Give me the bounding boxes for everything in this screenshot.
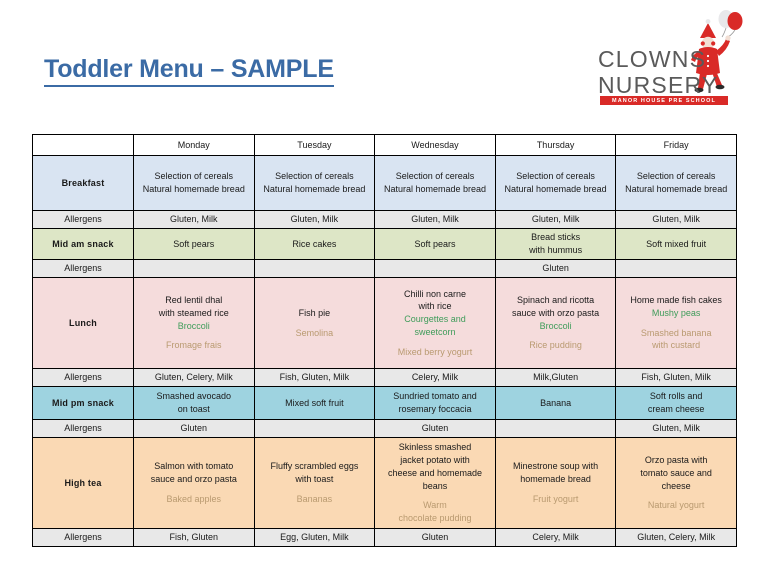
allergens-cell: Gluten (134, 420, 255, 438)
menu-cell: Soft pears (134, 229, 255, 260)
meal-row: Mid pm snackSmashed avocadoon toastMixed… (33, 387, 737, 420)
menu-cell-content: Mixed soft fruit (257, 397, 373, 410)
table-corner-cell (33, 135, 134, 156)
meal-label-mid-am-snack: Mid am snack (33, 229, 134, 260)
menu-cell-content: Rice cakes (257, 238, 373, 251)
allergens-cell (375, 260, 496, 278)
menu-cell: Spinach and ricottasauce with orzo pasta… (495, 278, 616, 369)
menu-cell-content: Fish pieSemolina (257, 307, 373, 340)
cell-spacer (498, 332, 614, 339)
allergens-label: Allergens (33, 529, 134, 547)
menu-cell: Soft mixed fruit (616, 229, 737, 260)
day-header-thursday: Thursday (495, 135, 616, 156)
allergens-cell (134, 260, 255, 278)
allergens-cell: Gluten, Celery, Milk (134, 369, 255, 387)
clowns-nursery-logo: CLOWNS NURSERY MANOR HOUSE PRE SCHOOL (598, 8, 743, 108)
cell-spacer (377, 339, 493, 346)
menu-cell-content: Red lentil dhalwith steamed riceBroccoli… (136, 294, 252, 352)
menu-cell: Selection of cerealsNatural homemade bre… (254, 156, 375, 211)
menu-cell-content: Salmon with tomatosauce and orzo pastaBa… (136, 460, 252, 505)
menu-cell: Bread stickswith hummus (495, 229, 616, 260)
menu-cell: Fish pieSemolina (254, 278, 375, 369)
cell-spacer (257, 320, 373, 327)
allergens-cell (254, 260, 375, 278)
cell-spacer (136, 332, 252, 339)
menu-cell: Rice cakes (254, 229, 375, 260)
allergens-cell (495, 420, 616, 438)
menu-cell-content: Fluffy scrambled eggswith toastBananas (257, 460, 373, 505)
menu-cell: Orzo pasta withtomato sauce andcheeseNat… (616, 438, 737, 529)
menu-cell: Red lentil dhalwith steamed riceBroccoli… (134, 278, 255, 369)
menu-cell-content: Chilli non carnewith riceCourgettes ands… (377, 288, 493, 359)
allergens-cell: Gluten (495, 260, 616, 278)
menu-cell: Selection of cerealsNatural homemade bre… (375, 156, 496, 211)
weekly-menu-table: MondayTuesdayWednesdayThursdayFridayBrea… (32, 134, 737, 547)
allergens-row: AllergensGluten, MilkGluten, MilkGluten,… (33, 211, 737, 229)
day-header-tuesday: Tuesday (254, 135, 375, 156)
meal-row: BreakfastSelection of cerealsNatural hom… (33, 156, 737, 211)
cell-spacer (618, 320, 734, 327)
allergens-label: Allergens (33, 369, 134, 387)
logo-wordmark: CLOWNS NURSERY (598, 46, 724, 98)
cell-spacer (498, 486, 614, 493)
allergens-cell: Gluten (375, 529, 496, 547)
allergens-cell: Fish, Gluten, Milk (254, 369, 375, 387)
allergens-label: Allergens (33, 260, 134, 278)
day-header-wednesday: Wednesday (375, 135, 496, 156)
allergens-cell: Gluten, Milk (616, 420, 737, 438)
logo-line-clowns: CLOWNS (598, 46, 724, 72)
menu-cell: Selection of cerealsNatural homemade bre… (495, 156, 616, 211)
menu-cell-content: Smashed avocadoon toast (136, 390, 252, 416)
meal-label-breakfast: Breakfast (33, 156, 134, 211)
menu-cell-content: Minestrone soup withhomemade breadFruit … (498, 460, 614, 505)
menu-cell-content: Bread stickswith hummus (498, 231, 614, 257)
menu-cell: Sundried tomato androsemary foccacia (375, 387, 496, 420)
menu-cell: Selection of cerealsNatural homemade bre… (134, 156, 255, 211)
allergens-label: Allergens (33, 211, 134, 229)
allergens-cell: Gluten, Milk (254, 211, 375, 229)
table-header-row: MondayTuesdayWednesdayThursdayFriday (33, 135, 737, 156)
cell-spacer (618, 492, 734, 499)
menu-cell: Home made fish cakesMushy peasSmashed ba… (616, 278, 737, 369)
allergens-cell: Celery, Milk (375, 369, 496, 387)
allergens-cell (616, 260, 737, 278)
meal-label-high-tea: High tea (33, 438, 134, 529)
allergens-cell (254, 420, 375, 438)
allergens-row: AllergensFish, GlutenEgg, Gluten, MilkGl… (33, 529, 737, 547)
allergens-cell: Milk,Gluten (495, 369, 616, 387)
menu-cell-content: Selection of cerealsNatural homemade bre… (136, 170, 252, 196)
menu-cell-content: Soft pears (136, 238, 252, 251)
cell-spacer (136, 486, 252, 493)
menu-cell-content: Soft pears (377, 238, 493, 251)
menu-cell-content: Selection of cerealsNatural homemade bre… (257, 170, 373, 196)
allergens-label: Allergens (33, 420, 134, 438)
menu-cell-content: Soft mixed fruit (618, 238, 734, 251)
logo-line-nursery: NURSERY (598, 72, 724, 98)
menu-cell-content: Selection of cerealsNatural homemade bre… (618, 170, 734, 196)
logo-banner-text: MANOR HOUSE PRE SCHOOL (600, 96, 728, 105)
allergens-row: AllergensGlutenGlutenGluten, Milk (33, 420, 737, 438)
allergens-cell: Gluten, Milk (375, 211, 496, 229)
allergens-cell: Gluten (375, 420, 496, 438)
page-header: Toddler Menu – SAMPLE (0, 0, 768, 130)
menu-cell: Soft pears (375, 229, 496, 260)
cell-spacer (377, 492, 493, 499)
page-title: Toddler Menu – SAMPLE (44, 55, 334, 87)
menu-cell: Minestrone soup withhomemade breadFruit … (495, 438, 616, 529)
menu-cell: Chilli non carnewith riceCourgettes ands… (375, 278, 496, 369)
menu-cell-content: Selection of cerealsNatural homemade bre… (498, 170, 614, 196)
allergens-row: AllergensGluten (33, 260, 737, 278)
menu-cell: Smashed avocadoon toast (134, 387, 255, 420)
meal-row: High teaSalmon with tomatosauce and orzo… (33, 438, 737, 529)
allergens-cell: Celery, Milk (495, 529, 616, 547)
menu-cell-content: Skinless smashedjacket potato withcheese… (377, 441, 493, 525)
menu-cell-content: Home made fish cakesMushy peasSmashed ba… (618, 294, 734, 352)
menu-cell-content: Orzo pasta withtomato sauce andcheeseNat… (618, 454, 734, 512)
meal-label-lunch: Lunch (33, 278, 134, 369)
menu-cell: Selection of cerealsNatural homemade bre… (616, 156, 737, 211)
menu-cell-content: Spinach and ricottasauce with orzo pasta… (498, 294, 614, 352)
menu-cell: Banana (495, 387, 616, 420)
day-header-friday: Friday (616, 135, 737, 156)
allergens-cell: Gluten, Milk (495, 211, 616, 229)
meal-row: Mid am snackSoft pearsRice cakesSoft pea… (33, 229, 737, 260)
day-header-monday: Monday (134, 135, 255, 156)
menu-cell-content: Selection of cerealsNatural homemade bre… (377, 170, 493, 196)
allergens-cell: Gluten, Milk (616, 211, 737, 229)
allergens-cell: Egg, Gluten, Milk (254, 529, 375, 547)
menu-cell-content: Banana (498, 397, 614, 410)
cell-spacer (257, 486, 373, 493)
allergens-row: AllergensGluten, Celery, MilkFish, Glute… (33, 369, 737, 387)
menu-cell: Fluffy scrambled eggswith toastBananas (254, 438, 375, 529)
allergens-cell: Gluten, Celery, Milk (616, 529, 737, 547)
menu-cell-content: Sundried tomato androsemary foccacia (377, 390, 493, 416)
allergens-cell: Gluten, Milk (134, 211, 255, 229)
menu-cell: Mixed soft fruit (254, 387, 375, 420)
allergens-cell: Fish, Gluten, Milk (616, 369, 737, 387)
menu-cell: Salmon with tomatosauce and orzo pastaBa… (134, 438, 255, 529)
menu-cell: Soft rolls andcream cheese (616, 387, 737, 420)
menu-cell-content: Soft rolls andcream cheese (618, 390, 734, 416)
allergens-cell: Fish, Gluten (134, 529, 255, 547)
meal-label-mid-pm-snack: Mid pm snack (33, 387, 134, 420)
menu-cell: Skinless smashedjacket potato withcheese… (375, 438, 496, 529)
meal-row: LunchRed lentil dhalwith steamed riceBro… (33, 278, 737, 369)
